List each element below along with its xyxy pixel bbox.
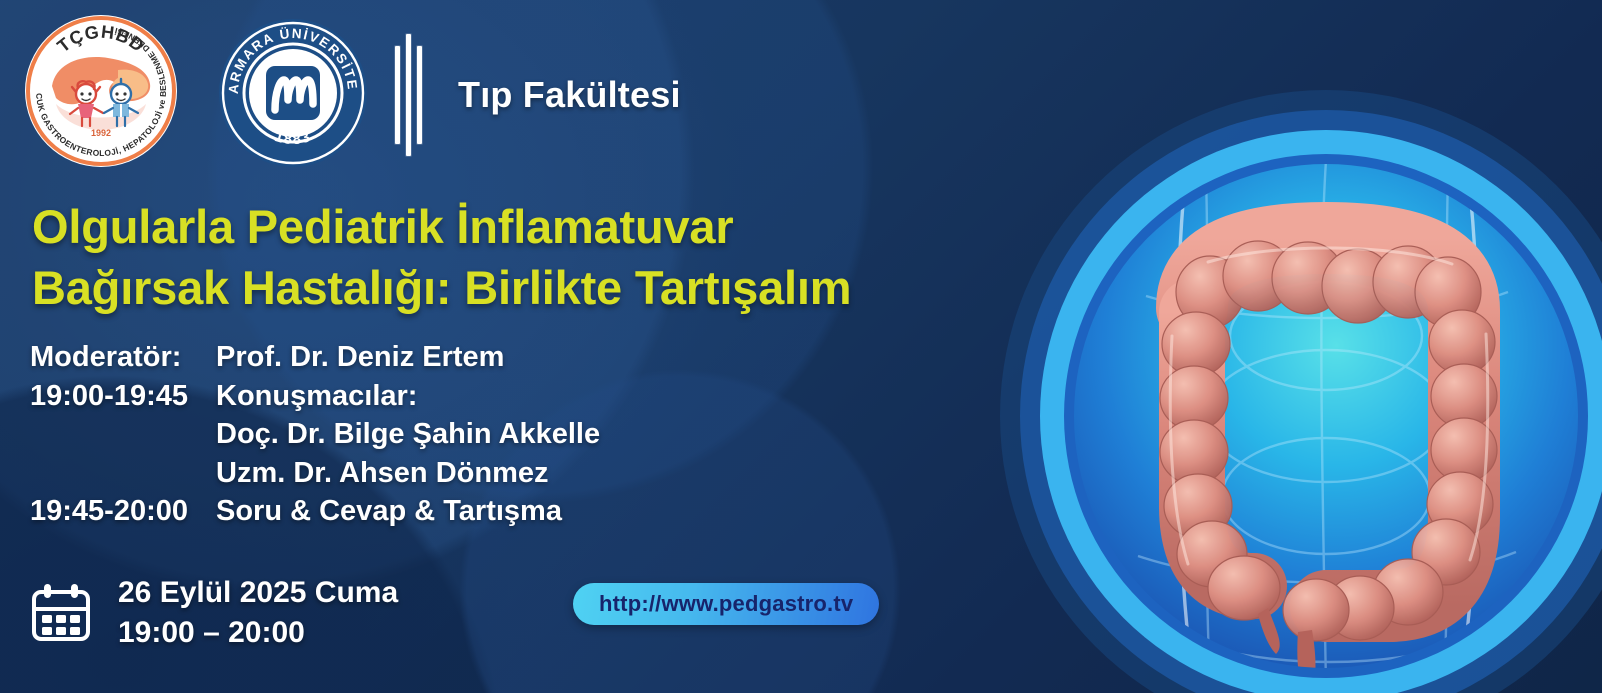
- logo-group: 1992 TÇGHBD TÜRK ÇOCUK GASTROENTEROLOJİ,…: [22, 12, 368, 170]
- faculty-block: Tıp Fakültesi: [394, 30, 681, 160]
- title-line-1: Olgularla Pediatrik İnflamatuvar: [32, 196, 1042, 257]
- program-row-moderator: Moderatör: Prof. Dr. Deniz Ertem: [30, 338, 600, 377]
- society-logo-year: 1992: [91, 128, 111, 138]
- program-text: Uzm. Dr. Ahsen Dönmez: [216, 454, 548, 493]
- university-logo: MARMARA ÜNİVERSİTESİ 1883: [218, 18, 368, 168]
- footer-datetime: 26 Eylül 2025 Cuma 19:00 – 20:00: [30, 573, 398, 652]
- program-list: Moderatör: Prof. Dr. Deniz Ertem 19:00-1…: [30, 338, 600, 531]
- website-url-text: http://www.pedgastro.tv: [599, 591, 853, 617]
- program-text: Konuşmacılar:: [216, 377, 417, 416]
- program-text: Doç. Dr. Bilge Şahin Akkelle: [216, 415, 600, 454]
- program-time: 19:45-20:00: [30, 492, 216, 531]
- program-row: 19:45-20:00 Soru & Cevap & Tartışma: [30, 492, 600, 531]
- society-logo: 1992 TÇGHBD TÜRK ÇOCUK GASTROENTEROLOJİ,…: [22, 12, 180, 170]
- moderator-name: Prof. Dr. Deniz Ertem: [216, 338, 504, 377]
- program-text: Soru & Cevap & Tartışma: [216, 492, 562, 531]
- page-title: Olgularla Pediatrik İnflamatuvar Bağırsa…: [32, 196, 1042, 318]
- colon-illustration: [996, 86, 1602, 693]
- program-row: 19:00-19:45 Konuşmacılar:: [30, 377, 600, 416]
- program-row: Doç. Dr. Bilge Şahin Akkelle: [30, 415, 600, 454]
- moderator-label: Moderatör:: [30, 338, 216, 377]
- event-time: 19:00 – 20:00: [118, 613, 398, 653]
- faculty-label: Tıp Fakültesi: [458, 74, 681, 116]
- program-row: Uzm. Dr. Ahsen Dönmez: [30, 454, 600, 493]
- calendar-icon: [30, 583, 92, 643]
- website-url-pill[interactable]: http://www.pedgastro.tv: [573, 583, 879, 625]
- event-date: 26 Eylül 2025 Cuma: [118, 573, 398, 613]
- conference-banner: 1992 TÇGHBD TÜRK ÇOCUK GASTROENTEROLOJİ,…: [0, 0, 1602, 693]
- title-line-2: Bağırsak Hastalığı: Birlikte Tartışalım: [32, 257, 1042, 318]
- divider-bars-icon: [394, 34, 424, 156]
- program-time: 19:00-19:45: [30, 377, 216, 416]
- event-datetime: 26 Eylül 2025 Cuma 19:00 – 20:00: [118, 573, 398, 652]
